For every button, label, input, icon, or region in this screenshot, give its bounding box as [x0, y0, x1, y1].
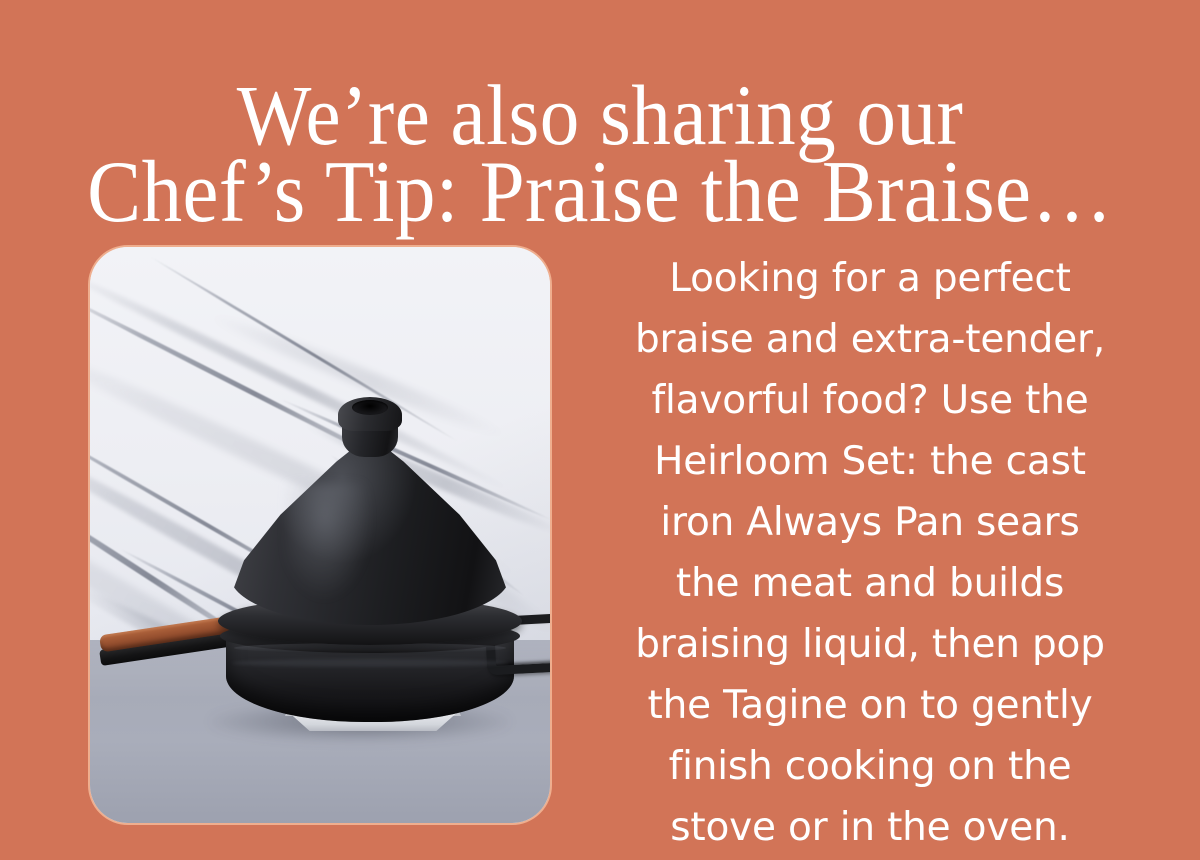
- promo-banner: We’re also sharing our Chef’s Tip: Prais…: [0, 0, 1200, 860]
- lid-knob-vent: [352, 400, 388, 415]
- body-copy: Looking for a perfect braise and extra-t…: [600, 248, 1140, 858]
- headline-line-1: We’re also sharing our: [48, 76, 1152, 154]
- headline: We’re also sharing our Chef’s Tip: Prais…: [0, 76, 1200, 232]
- copy-line: the Tagine on to gently: [600, 675, 1140, 736]
- copy-line: the meat and builds: [600, 553, 1140, 614]
- copy-line: Looking for a perfect: [600, 248, 1140, 309]
- copy-line: braising liquid, then pop: [600, 614, 1140, 675]
- copy-line: braise and extra-tender,: [600, 309, 1140, 370]
- pan-band: [232, 659, 508, 667]
- lid-highlight: [286, 483, 372, 601]
- copy-line: stove or in the oven.: [600, 797, 1140, 858]
- copy-line: finish cooking on the: [600, 736, 1140, 797]
- headline-line-2: Chef’s Tip: Praise the Braise…: [48, 154, 1152, 232]
- copy-line: iron Always Pan sears: [600, 492, 1140, 553]
- tagine-product: [90, 247, 550, 823]
- copy-line: flavorful food? Use the: [600, 370, 1140, 431]
- copy-line: Heirloom Set: the cast: [600, 431, 1140, 492]
- product-image-card[interactable]: [88, 245, 552, 825]
